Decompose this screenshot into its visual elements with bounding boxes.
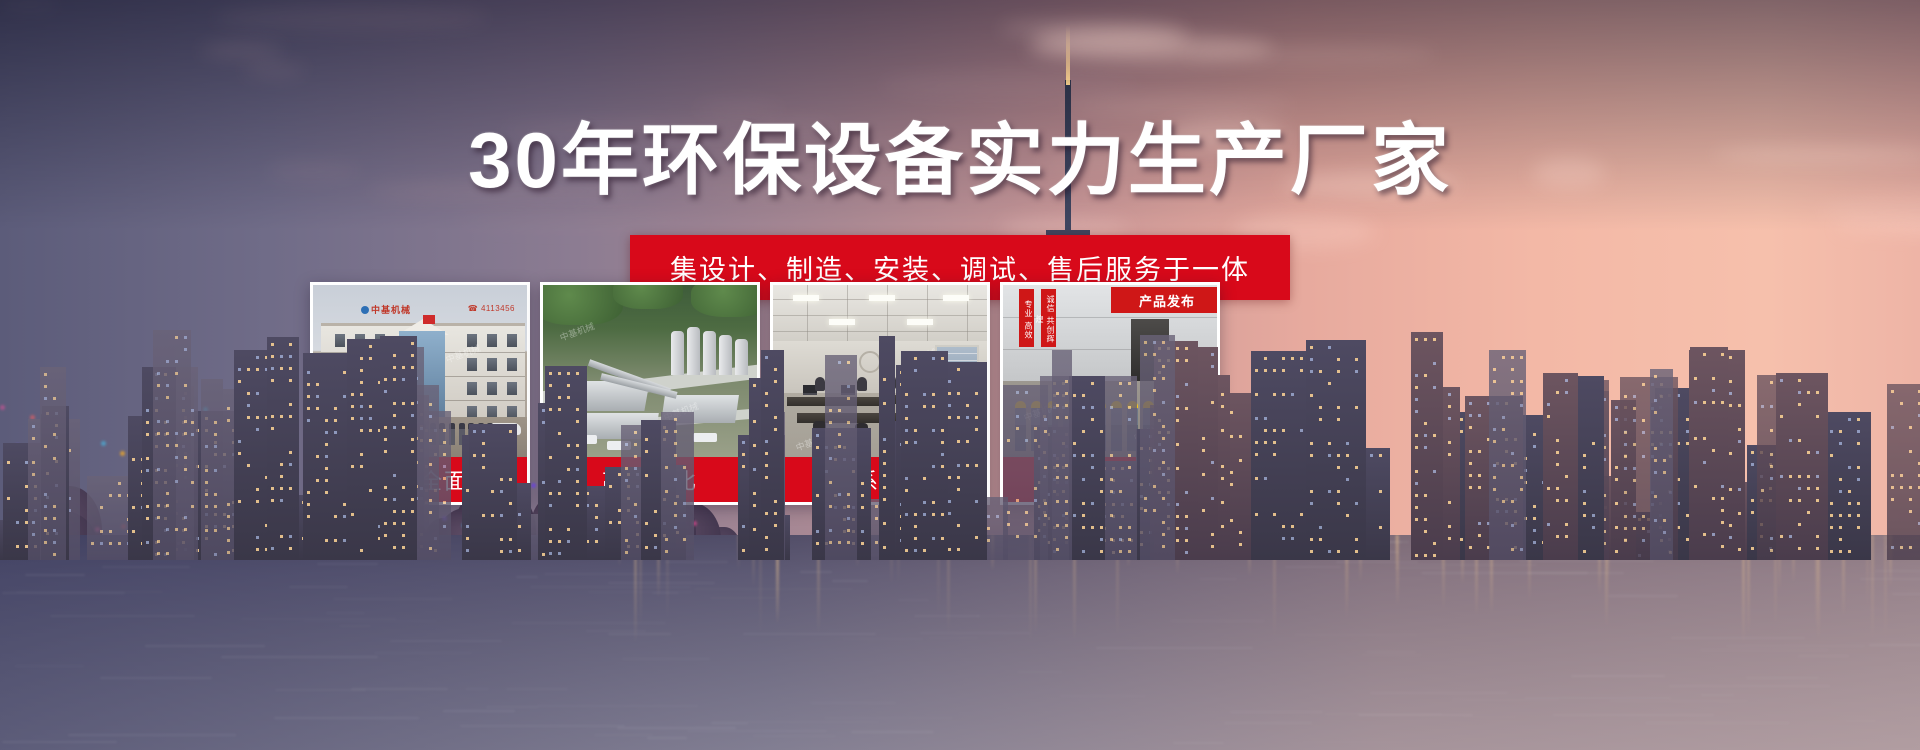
ripple (608, 582, 715, 584)
river-water (0, 535, 1920, 750)
ripple (1199, 578, 1237, 580)
staff-person (815, 377, 825, 391)
ripple (390, 640, 502, 642)
building (380, 336, 417, 560)
ripple (832, 580, 868, 582)
ripple (617, 727, 736, 729)
ripple (544, 573, 698, 575)
ripple (303, 620, 437, 622)
page-title: 30年环保设备实力生产厂家 (0, 98, 1920, 210)
ripple (1845, 720, 1877, 722)
ripple (1170, 620, 1265, 622)
tree-light (101, 441, 106, 446)
factory-left-sign: 专业 高效 (1019, 289, 1034, 347)
ripple (1173, 742, 1225, 744)
truck (693, 433, 717, 442)
ripple (1553, 714, 1714, 716)
tree-light (120, 451, 125, 456)
ripple (460, 725, 625, 727)
ripple (1017, 671, 1062, 673)
ripple (50, 615, 195, 617)
ripple (851, 731, 934, 733)
ripple (1230, 711, 1323, 713)
staff-person (857, 377, 867, 391)
factory-left-sign-2: 诚信 共创辉煌 (1041, 289, 1056, 347)
building (944, 362, 987, 560)
building-phone-number: ☎ 4113456 (468, 304, 515, 313)
ripple (1285, 566, 1342, 568)
tree-light (0, 405, 5, 410)
building (201, 379, 223, 560)
ceiling-light (943, 295, 969, 301)
ripple (1463, 716, 1516, 718)
ripple (516, 576, 538, 578)
ripple (25, 574, 85, 576)
ripple (1608, 595, 1678, 597)
building (40, 367, 66, 560)
ripple (1421, 572, 1587, 574)
ceiling-light (907, 319, 933, 325)
building (825, 355, 857, 560)
hero-banner: 30年环保设备实力生产厂家 集设计、制造、安装、调试、售后服务于一体 (0, 0, 1920, 750)
ripple (747, 721, 879, 723)
ripple (1396, 564, 1537, 566)
factory-red-banner: 产品发布 (1111, 287, 1217, 313)
ceiling-light (869, 295, 895, 301)
ripple (1892, 593, 1920, 595)
light-reflection (1871, 535, 1874, 641)
ripple (1669, 685, 1829, 687)
building-sign: 中基机械 (361, 303, 411, 316)
ripple (1671, 637, 1805, 639)
ripple (333, 598, 453, 600)
ripple (1452, 699, 1559, 701)
light-reflection (1395, 535, 1398, 574)
ceiling (773, 285, 987, 341)
ripple (1609, 700, 1749, 702)
ripple (1361, 654, 1423, 656)
building (1690, 347, 1728, 560)
ripple (351, 688, 447, 690)
building (1251, 351, 1305, 560)
ripple (1875, 570, 1920, 572)
ripple (1746, 677, 1819, 679)
ripple (506, 688, 569, 690)
ripple (317, 563, 378, 565)
ripple (2, 741, 118, 743)
building (1226, 393, 1252, 560)
ripple (145, 645, 265, 647)
ripple (810, 702, 896, 704)
building (267, 337, 299, 560)
ceiling-light (829, 319, 855, 325)
ripple (486, 706, 538, 708)
building (1140, 335, 1175, 560)
ripple (374, 652, 472, 654)
ripple (100, 677, 213, 679)
ripple (1395, 578, 1425, 580)
ripple (102, 566, 190, 568)
building (153, 330, 191, 560)
company-logo-icon (361, 306, 369, 314)
ripple (68, 734, 236, 736)
ripple (647, 737, 686, 739)
building (1776, 373, 1827, 560)
building (1306, 340, 1367, 560)
ripple (443, 710, 515, 712)
ripple (843, 638, 924, 640)
ripple (586, 630, 646, 632)
building (1489, 350, 1526, 560)
ripple (929, 637, 978, 639)
ripple (976, 615, 1060, 617)
ripple (2, 592, 125, 594)
ceiling-light (793, 295, 819, 301)
building (1198, 347, 1218, 560)
ripple (289, 586, 348, 588)
ripple (1726, 645, 1864, 647)
ripple (1701, 694, 1734, 696)
building (879, 336, 895, 560)
ripple (1571, 675, 1665, 677)
building (901, 351, 948, 560)
ripple (274, 717, 418, 719)
ripple (711, 722, 748, 724)
ripple (694, 588, 852, 590)
ripple (622, 658, 709, 660)
ripple (1395, 567, 1446, 569)
ripple (743, 633, 876, 635)
building (545, 366, 587, 560)
building (1887, 384, 1920, 560)
ripple (687, 730, 826, 732)
ripple (824, 717, 953, 719)
flag (423, 315, 435, 324)
building (1650, 369, 1673, 560)
ripple (326, 612, 365, 614)
ripple (511, 622, 667, 624)
ripple (537, 705, 699, 707)
ripple (608, 633, 671, 635)
ripple (1370, 692, 1508, 694)
building (1826, 412, 1871, 560)
ripple (15, 665, 84, 667)
ripple (920, 632, 1030, 634)
ripple (1700, 649, 1828, 651)
ripple (1224, 722, 1312, 724)
building (1069, 376, 1105, 560)
building (1543, 373, 1578, 560)
ripple (1096, 647, 1253, 649)
building (661, 412, 694, 560)
building (469, 424, 517, 560)
ripple (594, 734, 653, 736)
building (1411, 332, 1443, 560)
ripple (710, 597, 776, 599)
building (761, 350, 784, 560)
ripple (1645, 722, 1790, 724)
ripple (1294, 634, 1418, 636)
ripple (1869, 644, 1920, 646)
building (1052, 350, 1072, 560)
